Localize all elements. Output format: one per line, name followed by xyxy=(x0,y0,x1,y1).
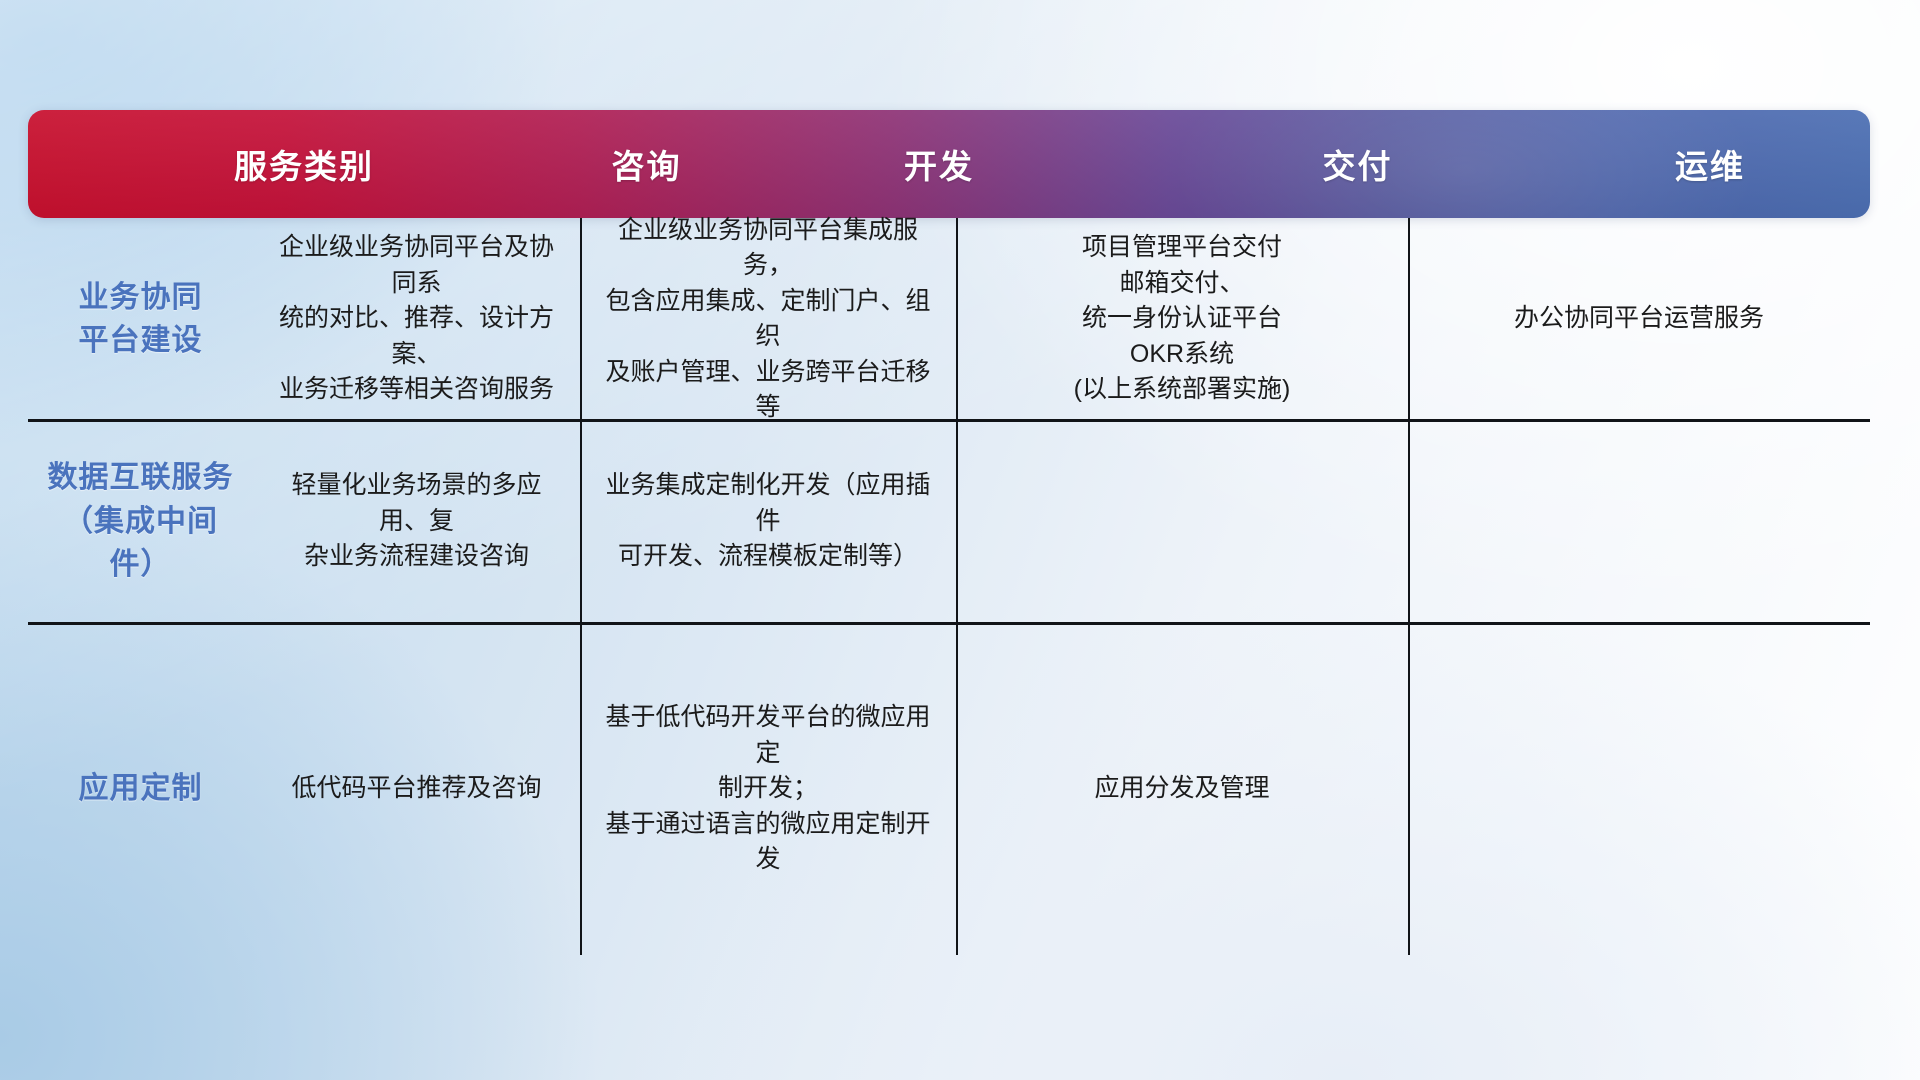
header-cell-operations: 运维 xyxy=(1550,140,1870,188)
table-row: 数据互联服务 （集成中间件） 轻量化业务场景的多应用、复 杂业务流程建设咨询 业… xyxy=(28,420,1870,623)
cell-1-development: 业务集成定制化开发（应用插件 可开发、流程模板定制等） xyxy=(580,420,956,623)
row-label-1: 数据互联服务 （集成中间件） xyxy=(28,420,253,623)
cell-1-delivery xyxy=(956,420,1408,623)
cell-2-delivery: 应用分发及管理 xyxy=(956,623,1408,955)
header-cell-delivery: 交付 xyxy=(1165,140,1550,188)
row-label-2: 应用定制 xyxy=(28,623,253,955)
header-cell-category: 服务类别 xyxy=(28,140,580,188)
cell-2-development: 基于低代码开发平台的微应用定 制开发； 基于通过语言的微应用定制开发 xyxy=(580,623,956,955)
cell-0-delivery: 项目管理平台交付 邮箱交付、 统一身份认证平台 OKR系统 (以上系统部署实施) xyxy=(956,218,1408,420)
cell-1-operations xyxy=(1408,420,1870,623)
cell-2-consulting: 低代码平台推荐及咨询 xyxy=(253,623,580,955)
cell-0-consulting: 企业级业务协同平台及协同系 统的对比、推荐、设计方案、 业务迁移等相关咨询服务 xyxy=(253,218,580,420)
header-cell-development: 开发 xyxy=(713,140,1165,188)
table-row: 应用定制 低代码平台推荐及咨询 基于低代码开发平台的微应用定 制开发； 基于通过… xyxy=(28,623,1870,955)
cell-0-operations: 办公协同平台运营服务 xyxy=(1408,218,1870,420)
table-body: 业务协同 平台建设 企业级业务协同平台及协同系 统的对比、推荐、设计方案、 业务… xyxy=(28,218,1870,955)
row-label-0: 业务协同 平台建设 xyxy=(28,218,253,420)
table-header-row: 服务类别 咨询 开发 交付 运维 xyxy=(28,110,1870,218)
header-cell-consulting: 咨询 xyxy=(580,140,713,188)
table-row: 业务协同 平台建设 企业级业务协同平台及协同系 统的对比、推荐、设计方案、 业务… xyxy=(28,218,1870,420)
cell-2-operations xyxy=(1408,623,1870,955)
cell-0-development: 企业级业务协同平台集成服务， 包含应用集成、定制门户、组织 及账户管理、业务跨平… xyxy=(580,218,956,420)
service-matrix-table: 服务类别 咨询 开发 交付 运维 业务协同 平台建设 企业级业务协同平台及协同系… xyxy=(28,110,1870,955)
cell-1-consulting: 轻量化业务场景的多应用、复 杂业务流程建设咨询 xyxy=(253,420,580,623)
